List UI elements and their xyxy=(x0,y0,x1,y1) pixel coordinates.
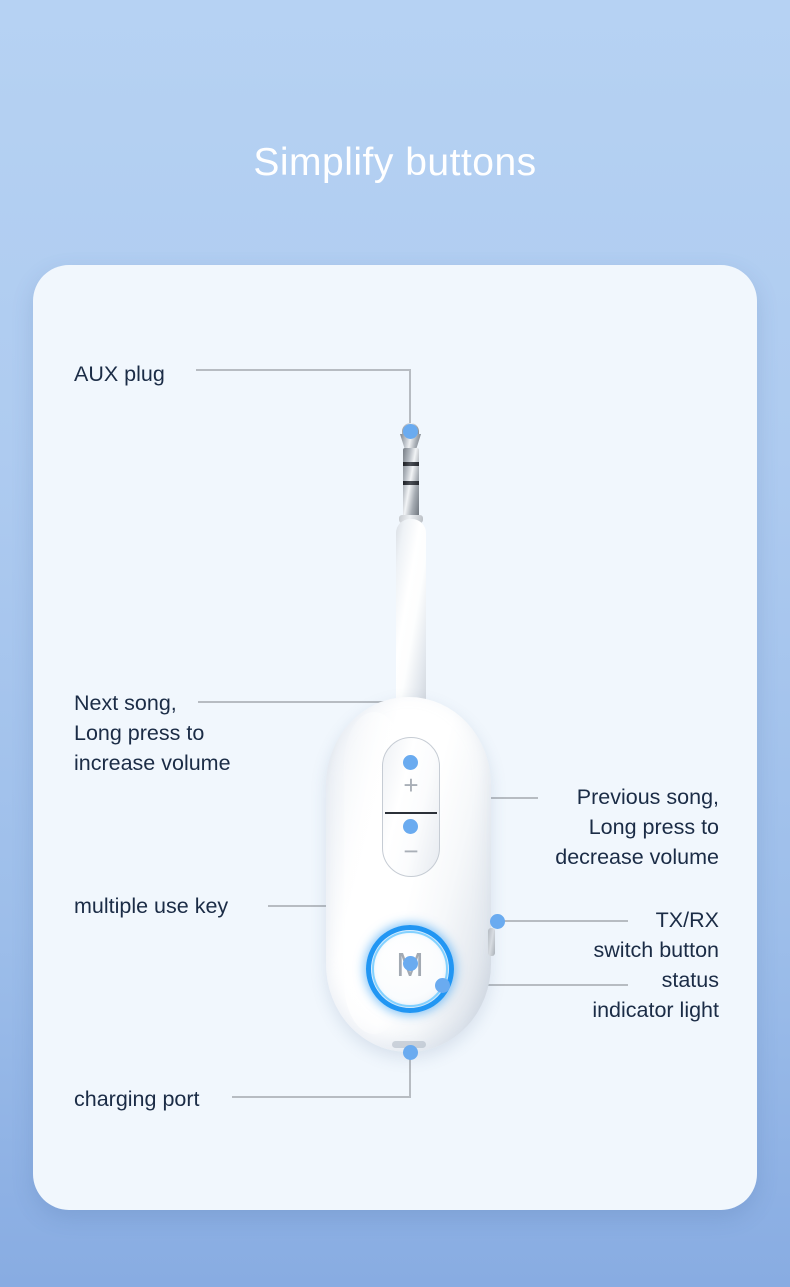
callout-label-txrx-switch: TX/RX switch button xyxy=(594,905,719,965)
aux-plug-band-icon xyxy=(403,462,419,466)
callout-label-aux-plug: AUX plug xyxy=(74,359,165,389)
callout-dot-aux-plug xyxy=(403,424,418,439)
aux-plug-band-icon xyxy=(403,481,419,485)
callout-label-status-indicator: status indicator light xyxy=(592,965,719,1025)
callout-label-charging-port: charging port xyxy=(74,1084,200,1114)
callout-label-previous-song: Previous song, Long press to decrease vo… xyxy=(555,782,719,872)
callout-dot-previous-song xyxy=(403,819,418,834)
callout-label-next-song: Next song, Long press to increase volume xyxy=(74,688,231,778)
volume-up-icon[interactable]: + xyxy=(382,772,440,798)
volume-down-icon[interactable]: − xyxy=(382,838,440,864)
callout-label-multiple-use-key: multiple use key xyxy=(74,891,228,921)
callout-dot-next-song xyxy=(403,755,418,770)
rocker-divider xyxy=(385,812,437,814)
device-stem xyxy=(396,519,426,719)
callout-dot-charging-port xyxy=(403,1045,418,1060)
txrx-switch-slider[interactable] xyxy=(488,928,495,956)
callout-dot-status-indicator xyxy=(435,978,450,993)
callout-dot-multiple-use-key xyxy=(403,956,418,971)
callout-dot-txrx-switch xyxy=(490,914,505,929)
